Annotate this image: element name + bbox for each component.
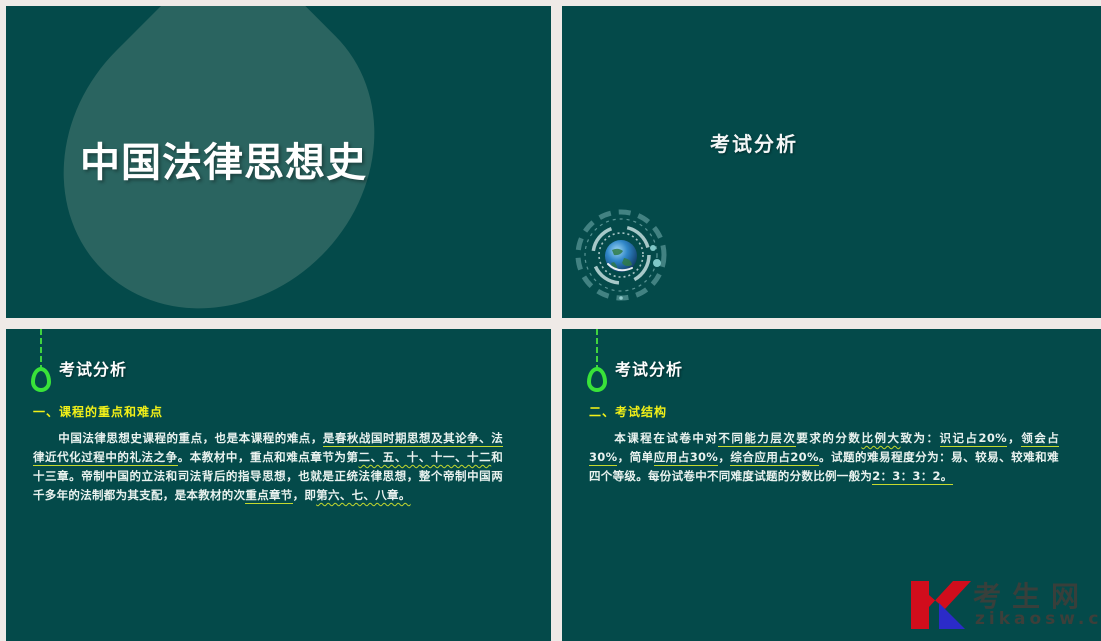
droplet-pin-icon bbox=[587, 367, 607, 392]
body-text-segment: 不同能力层次 bbox=[718, 431, 796, 447]
section-title: 考试分析 bbox=[710, 128, 798, 157]
slide-title: 考试分析 bbox=[615, 356, 683, 380]
slide-2-section[interactable]: 考试分析 bbox=[562, 6, 1101, 318]
cover-title: 中国法律思想史 bbox=[80, 130, 367, 188]
body-text-segment: 二、五、十、十一、十二 bbox=[359, 450, 492, 464]
slide-3-key-points[interactable]: 考试分析 一、课程的重点和难点 中国法律思想史课程的重点，也是本课程的难点，是春… bbox=[6, 329, 551, 641]
body-text-segment: 中国法律思想史课程的重点，也是本课程的难点， bbox=[33, 431, 323, 445]
body-text-segment: 综合应用占20% bbox=[730, 450, 818, 466]
slide-grid: 中国法律思想史 考试分析 bbox=[0, 0, 1101, 635]
slide-title: 考试分析 bbox=[59, 356, 127, 380]
dashed-hanger-line bbox=[596, 329, 598, 371]
body-paragraph: 本课程在试卷中对不同能力层次要求的分数比例大致为：识记占20%，领会占30%，简… bbox=[589, 429, 1059, 486]
body-text-segment: ， bbox=[1007, 431, 1021, 445]
body-text-segment: 第六、七、八章。 bbox=[316, 488, 410, 502]
droplet-pin-icon bbox=[31, 367, 51, 392]
body-text-segment: ， bbox=[718, 450, 730, 464]
section-heading: 一、课程的重点和难点 bbox=[33, 403, 163, 420]
body-text-segment: 本课程在试卷中对 bbox=[589, 431, 718, 445]
body-text-segment: 致为： bbox=[900, 431, 939, 445]
dashed-hanger-line bbox=[40, 329, 42, 371]
body-text-segment: 识记占20% bbox=[940, 431, 1007, 447]
body-text-segment: 应用占30% bbox=[654, 450, 718, 466]
watermark-k-logo bbox=[909, 579, 971, 631]
body-text-segment: 2：3：3：2。 bbox=[872, 469, 952, 485]
body-paragraph: 中国法律思想史课程的重点，也是本课程的难点，是春秋战国时期思想及其论争、法律近代… bbox=[33, 429, 503, 505]
watermark-url: zikaosw.cn bbox=[975, 609, 1101, 629]
body-text-segment: 重点章节 bbox=[245, 488, 292, 504]
body-text-segment: 比例大 bbox=[861, 431, 900, 445]
slide-1-cover[interactable]: 中国法律思想史 bbox=[6, 6, 551, 318]
body-text-segment: ，即 bbox=[293, 488, 317, 502]
watermark: 考生网 zikaosw.cn bbox=[909, 575, 1099, 637]
body-text-segment: 要求的分数 bbox=[796, 431, 861, 445]
section-heading: 二、考试结构 bbox=[589, 403, 667, 420]
globe-icon bbox=[572, 206, 670, 304]
body-text-segment: ，简单 bbox=[617, 450, 653, 464]
slide-4-exam-structure[interactable]: 考试分析 二、考试结构 本课程在试卷中对不同能力层次要求的分数比例大致为：识记占… bbox=[562, 329, 1101, 641]
body-text-segment: 。本教材中，重点和难点章节为第 bbox=[178, 450, 359, 464]
